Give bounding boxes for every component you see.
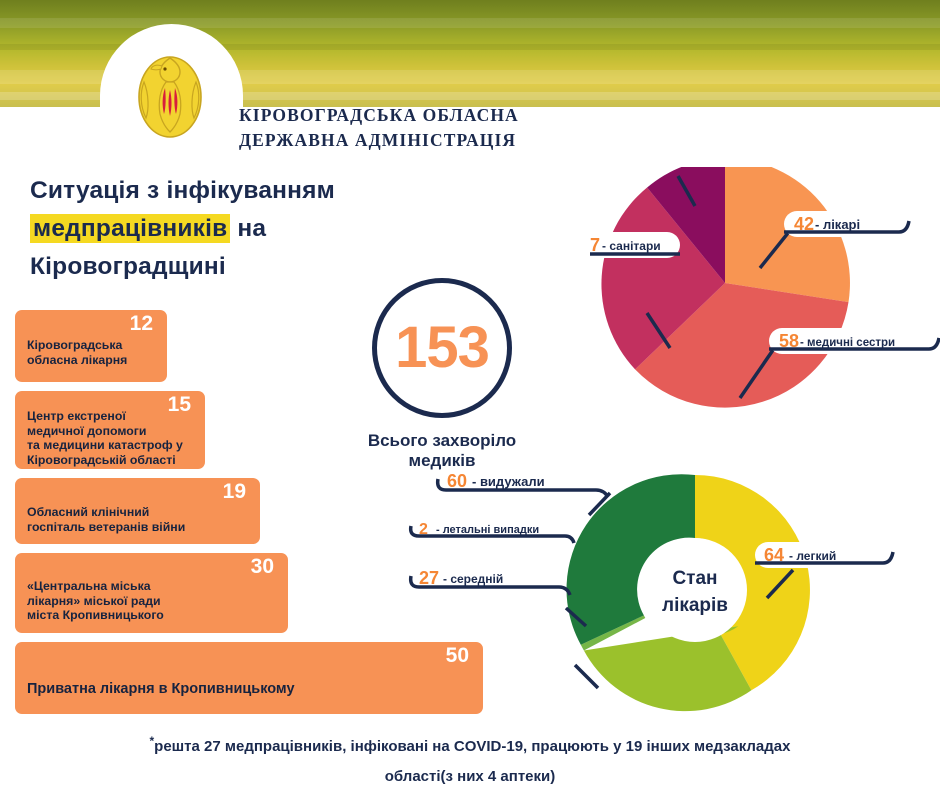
donut-callout-label: - легкий bbox=[789, 549, 836, 563]
page-title: Ситуація з інфікуванням медпрацівників н… bbox=[30, 172, 430, 286]
condition-donut-chart: Стан лікарів 60 - видужали 2 - летальні … bbox=[400, 460, 940, 720]
pie-callout-medsestry[interactable]: 58 - медичні сестри bbox=[769, 328, 939, 354]
donut-callout-value: 64 bbox=[764, 545, 784, 565]
donut-center-line2: лікарів bbox=[662, 595, 728, 616]
donut-callout-label: - летальні випадки bbox=[436, 524, 539, 536]
facility-bar-label: «Центральна міська лікарня» міської ради… bbox=[27, 558, 276, 623]
donut-center-line1: Стан bbox=[672, 568, 717, 589]
page-title-line2-rest: на bbox=[230, 215, 266, 242]
donut-callout-letalni[interactable]: 2 - летальні випадки bbox=[406, 515, 574, 543]
total-cases-block: 153 Всього захворіло медиків bbox=[352, 278, 532, 471]
donut-callout-serednii[interactable]: 27 - середній bbox=[406, 565, 570, 595]
footnote: *решта 27 медпрацівників, інфіковані на … bbox=[40, 726, 900, 792]
facility-bar-value: 19 bbox=[223, 480, 246, 504]
facility-bar-label: Обласний клінічний госпіталь ветеранів в… bbox=[27, 483, 248, 534]
donut-leader-line-serednii bbox=[575, 665, 598, 688]
pie-callout-sanitary[interactable]: 37 - санітари bbox=[590, 232, 680, 258]
donut-callout-value: 60 bbox=[447, 471, 467, 491]
pie-callout-label: - лікарі bbox=[815, 217, 860, 232]
total-cases-circle: 153 bbox=[372, 278, 512, 418]
facility-bar-value: 12 bbox=[130, 312, 153, 336]
donut-callout-value: 27 bbox=[419, 568, 439, 588]
footnote-line1-text: решта 27 медпрацівників, інфіковані на C… bbox=[154, 738, 790, 755]
field-streak bbox=[0, 18, 940, 28]
eagle-emblem-icon bbox=[120, 42, 220, 142]
profession-pie-chart: 42 - лікарі 58 - медичні сестри 37 - сан… bbox=[590, 128, 940, 418]
donut-callout-label: - видужали bbox=[472, 474, 545, 489]
pie-callout-label: - санітари bbox=[602, 239, 661, 253]
page-title-line1: Ситуація з інфікуванням bbox=[30, 172, 430, 210]
organization-title: КІРОВОГРАДСЬКА ОБЛАСНА ДЕРЖАВНА АДМІНІСТ… bbox=[239, 103, 659, 153]
pie-callout-value: 42 bbox=[794, 214, 814, 234]
page-title-highlight: медпрацівників bbox=[30, 214, 230, 243]
donut-callout-label: - середній bbox=[443, 572, 503, 586]
facility-bar-value: 15 bbox=[168, 393, 191, 417]
pie-callout-label: - медичні сестри bbox=[800, 337, 895, 349]
total-cases-value: 153 bbox=[395, 319, 489, 377]
pie-slices bbox=[601, 158, 850, 408]
pie-callout-value: 37 bbox=[590, 235, 600, 255]
pie-callout-value: 58 bbox=[779, 331, 799, 351]
facility-bar[interactable]: 12 Кіровоградська обласна лікарня bbox=[15, 310, 167, 382]
facility-bar[interactable]: 19 Обласний клінічний госпіталь ветерані… bbox=[15, 478, 260, 544]
donut-hole bbox=[643, 538, 747, 642]
donut-callout-legkyi[interactable]: 64 - легкий bbox=[755, 542, 893, 568]
facility-bar-value: 30 bbox=[251, 555, 274, 579]
org-title-line2: ДЕРЖАВНА АДМІНІСТРАЦІЯ bbox=[239, 128, 659, 153]
facility-bar[interactable]: 30 «Центральна міська лікарня» міської р… bbox=[15, 553, 288, 633]
page-title-line2: медпрацівників на bbox=[30, 210, 430, 248]
pie-callout-likari[interactable]: 42 - лікарі bbox=[784, 211, 909, 237]
donut-callout-value: 2 bbox=[419, 521, 428, 538]
org-title-line1: КІРОВОГРАДСЬКА ОБЛАСНА bbox=[239, 103, 659, 128]
facility-bar[interactable]: 15 Центр екстреної медичної допомоги та … bbox=[15, 391, 205, 469]
footnote-line1: *решта 27 медпрацівників, інфіковані на … bbox=[40, 726, 900, 762]
donut-callout-vyduzhaly[interactable]: 60 - видужали bbox=[433, 468, 608, 497]
